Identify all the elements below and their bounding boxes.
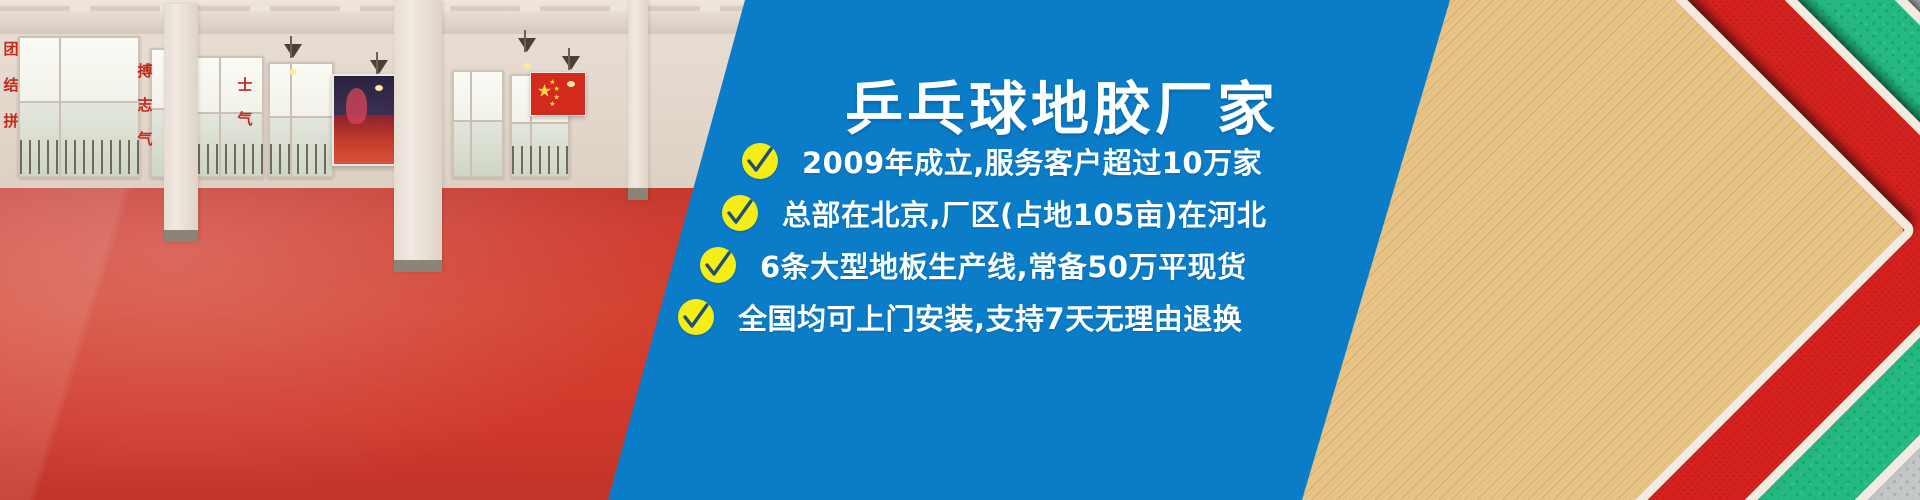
feature-item: 6条大型地板生产线,常备50万平现货	[700, 244, 1247, 286]
banner-title: 乒乓球地胶厂家	[845, 62, 1279, 146]
check-circle-icon	[742, 143, 778, 179]
feature-text: 6条大型地板生产线,常备50万平现货	[760, 244, 1247, 286]
feature-text: 总部在北京,厂区(占地105亩)在河北	[782, 192, 1267, 234]
feature-item: 2009年成立,服务客户超过10万家	[742, 140, 1262, 182]
feature-text: 2009年成立,服务客户超过10万家	[802, 140, 1262, 182]
promo-banner: 团 结 拼 搏 志 气 士 气	[0, 0, 1920, 500]
feature-item: 总部在北京,厂区(占地105亩)在河北	[722, 192, 1267, 234]
check-circle-icon	[700, 247, 736, 283]
banner-content: 乒乓球地胶厂家 2009年成立,服务客户超过10万家 总部在北京,厂区(占地10…	[0, 0, 1920, 500]
feature-item: 全国均可上门安装,支持7天无理由退换	[678, 296, 1242, 338]
feature-text: 全国均可上门安装,支持7天无理由退换	[738, 296, 1242, 338]
check-circle-icon	[678, 299, 714, 335]
check-circle-icon	[722, 195, 758, 231]
